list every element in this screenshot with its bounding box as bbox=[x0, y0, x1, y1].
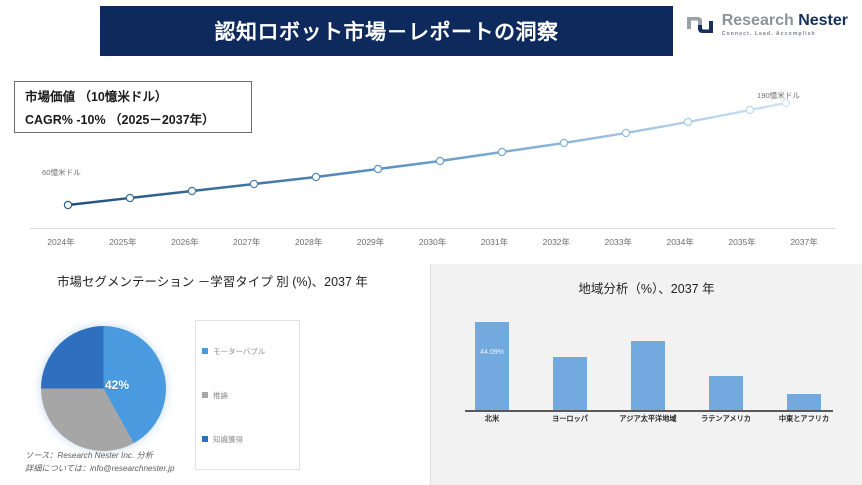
x-label: 2027年 bbox=[216, 236, 278, 254]
bar-chart-x-labels: 北米 ヨーロッパ アジア太平洋地域 ラテンアメリカ 中東とアフリカ bbox=[453, 414, 843, 430]
legend-item: モーターバブル bbox=[202, 346, 293, 357]
bar-x-label: 北米 bbox=[453, 414, 531, 430]
legend-swatch-icon bbox=[202, 392, 208, 398]
bar-slot bbox=[531, 310, 609, 410]
segmentation-pie-chart: 42% bbox=[33, 320, 188, 470]
bar: 44.09% bbox=[475, 322, 509, 410]
source-note: ソース：Research Nester Inc. 分析 詳細については：info… bbox=[25, 450, 175, 475]
legend-label: モーターバブル bbox=[213, 346, 265, 357]
contact-line: 詳細については：info@researchnester.jp bbox=[25, 463, 175, 476]
bar-x-label: 中東とアフリカ bbox=[765, 414, 843, 430]
legend-swatch-icon bbox=[202, 348, 208, 354]
regional-title: 地域分析（%）、2037 年 bbox=[431, 278, 862, 297]
legend-item: 推論 bbox=[202, 390, 293, 401]
bar-x-label: ヨーロッパ bbox=[531, 414, 609, 430]
bar bbox=[631, 341, 665, 410]
x-label: 2037年 bbox=[773, 236, 835, 254]
bar-value-label: 44.09% bbox=[475, 349, 509, 356]
line-chart-x-labels: 2024年 2025年 2026年 2027年 2028年 2029年 2030… bbox=[30, 236, 835, 254]
line-chart-axis bbox=[30, 228, 835, 229]
page-title: 認知ロボット市場－レポートの洞察 bbox=[215, 16, 559, 46]
bar bbox=[709, 376, 743, 410]
logo-name-part2: Nester bbox=[798, 12, 848, 29]
market-value-line-chart bbox=[0, 60, 862, 260]
legend-item: 知識獲得 bbox=[202, 434, 293, 445]
source-line: ソース：Research Nester Inc. 分析 bbox=[25, 450, 175, 463]
legend-label: 推論 bbox=[213, 390, 228, 401]
x-label: 2028年 bbox=[278, 236, 340, 254]
bar-slot bbox=[609, 310, 687, 410]
report-slide: 認知ロボット市場－レポートの洞察 Research Nester Connect… bbox=[0, 0, 862, 485]
bar bbox=[787, 394, 821, 410]
pie-legend: モーターバブル 推論 知識獲得 bbox=[195, 320, 300, 470]
regional-panel: 地域分析（%）、2037 年 44.09% 北米 ヨーロッパ bbox=[430, 264, 862, 485]
header-band: 認知ロボット市場－レポートの洞察 bbox=[100, 6, 673, 56]
x-label: 2026年 bbox=[154, 236, 216, 254]
bar bbox=[553, 357, 587, 410]
x-label: 2033年 bbox=[587, 236, 649, 254]
bar-chart-axis bbox=[465, 410, 833, 412]
x-label: 2032年 bbox=[525, 236, 587, 254]
bar-x-label: ラテンアメリカ bbox=[687, 414, 765, 430]
segmentation-title: 市場セグメンテーション －学習タイプ 別 (%)、2037 年 bbox=[40, 274, 385, 291]
x-label: 2034年 bbox=[649, 236, 711, 254]
x-label: 2025年 bbox=[92, 236, 154, 254]
legend-swatch-icon bbox=[202, 436, 208, 442]
bar-slot: 44.09% bbox=[453, 310, 531, 410]
pie-graphic bbox=[41, 326, 166, 451]
legend-label: 知識獲得 bbox=[213, 434, 243, 445]
brand-logo: Research Nester Connect. Lead. Accomplis… bbox=[685, 13, 848, 37]
bar-slot bbox=[765, 310, 843, 410]
x-label: 2029年 bbox=[340, 236, 402, 254]
x-label: 2030年 bbox=[402, 236, 464, 254]
logo-name-part1: Research bbox=[722, 12, 794, 29]
logo-text: Research Nester Connect. Lead. Accomplis… bbox=[722, 13, 848, 37]
x-label: 2031年 bbox=[463, 236, 525, 254]
bar-slot bbox=[687, 310, 765, 410]
line-end-annotation: 190憶米ドル bbox=[757, 90, 800, 101]
logo-name: Research Nester bbox=[722, 13, 848, 29]
x-label: 2035年 bbox=[711, 236, 773, 254]
logo-tagline: Connect. Lead. Accomplish bbox=[722, 32, 848, 37]
bar-x-label: アジア太平洋地域 bbox=[609, 414, 687, 430]
research-nester-logo-icon bbox=[685, 13, 715, 37]
regional-bar-chart: 44.09% bbox=[453, 310, 843, 410]
line-start-annotation: 60憶米ドル bbox=[42, 167, 81, 178]
pie-slice-label: 42% bbox=[105, 378, 129, 392]
x-label: 2024年 bbox=[30, 236, 92, 254]
